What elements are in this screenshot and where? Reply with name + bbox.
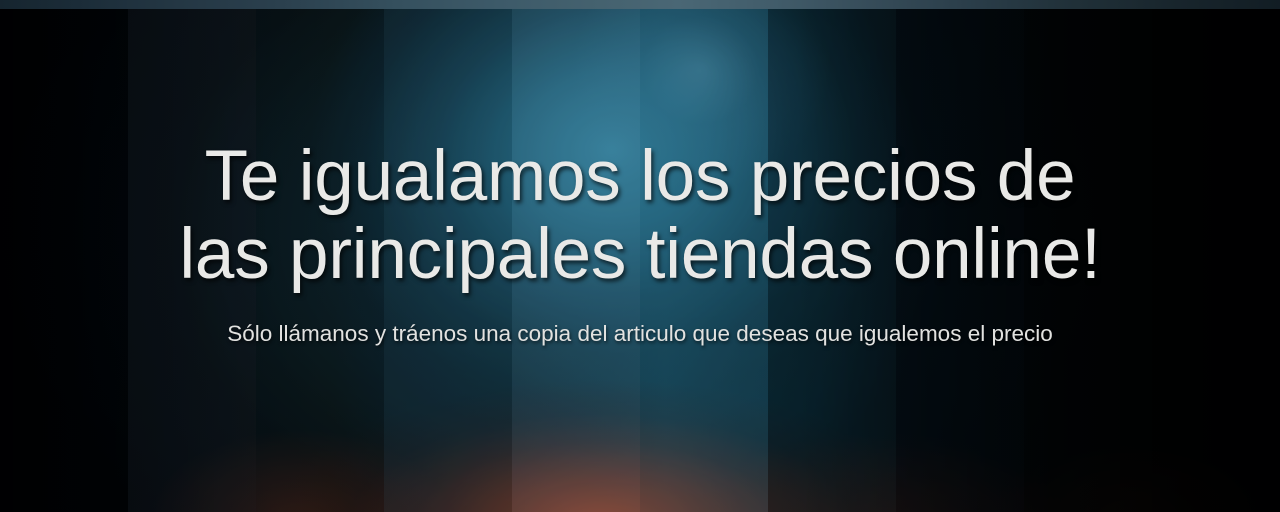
subtitle: Sólo llámanos y tráenos una copia del ar… — [0, 294, 1280, 348]
headline: Te igualamos los precios de las principa… — [0, 0, 1280, 294]
headline-line-1: Te igualamos los precios de — [0, 138, 1280, 216]
banner-content: Te igualamos los precios de las principa… — [0, 0, 1280, 512]
price-match-banner: Te igualamos los precios de las principa… — [0, 0, 1280, 512]
headline-line-2: las principales tiendas online! — [0, 216, 1280, 294]
